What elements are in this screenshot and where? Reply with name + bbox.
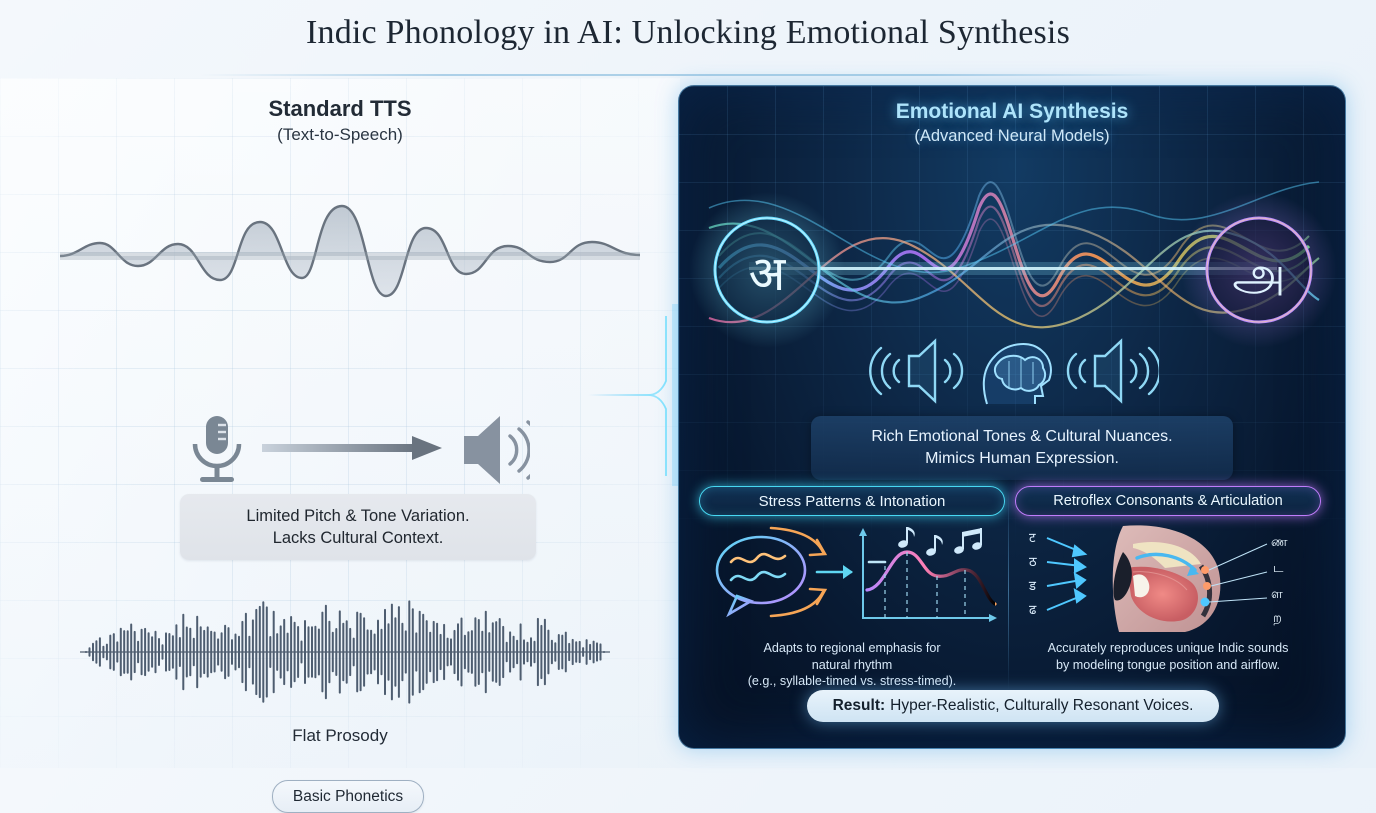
title-divider (200, 74, 1176, 76)
svg-text:ள: ள (1271, 587, 1283, 602)
standard-tts-note: Limited Pitch & Tone Variation. Lacks Cu… (180, 494, 536, 560)
tts-io-row (180, 410, 530, 490)
microphone-icon (195, 416, 239, 482)
standard-tts-note-line1: Limited Pitch & Tone Variation. (190, 505, 526, 527)
speaker-left-icon (870, 341, 962, 401)
standard-tts-header: Standard TTS (Text-to-Speech) (0, 96, 680, 145)
vocal-tract-art: टठडढ ணடளற (1015, 522, 1321, 634)
tamil-glyph-circle: அ (1232, 246, 1285, 302)
emotional-ai-panel: Emotional AI Synthesis (Advanced Neural … (678, 85, 1346, 749)
neural-speech-row (869, 334, 1159, 408)
retroflex-card[interactable]: Retroflex Consonants & Articulation (1015, 486, 1321, 706)
retroflex-caption-line2: by modeling tongue position and airflow. (1015, 657, 1321, 674)
emotional-ai-note-line1: Rich Emotional Tones & Cultural Nuances. (821, 426, 1223, 448)
standard-tts-panel: Standard TTS (Text-to-Speech) (0, 78, 680, 768)
airflow-arrows-icon (1047, 538, 1085, 610)
standard-tts-heading: Standard TTS (0, 96, 680, 122)
arrow-right-icon (817, 565, 853, 579)
result-text: Hyper-Realistic, Culturally Resonant Voi… (890, 697, 1193, 715)
tamil-retroflex-letters: ணடளற (1271, 535, 1288, 626)
infographic-canvas: Indic Phonology in AI: Unlocking Emotion… (0, 0, 1376, 768)
intonation-chart (859, 527, 997, 622)
emotional-ai-subheading: (Advanced Neural Models) (679, 127, 1345, 146)
stress-patterns-card-title: Stress Patterns & Intonation (699, 486, 1005, 516)
retroflex-caption: Accurately reproduces unique Indic sound… (1015, 640, 1321, 673)
basic-phonetics-button[interactable]: Basic Phonetics (272, 780, 424, 813)
speech-bubble-icon (717, 537, 805, 614)
basic-phonetics-label: Basic Phonetics (293, 788, 403, 806)
svg-text:ट: ट (1029, 531, 1036, 546)
smooth-waveform-graphic (60, 188, 640, 308)
emotional-ai-note-line2: Mimics Human Expression. (821, 448, 1223, 470)
stress-patterns-caption: Adapts to regional emphasis for natural … (699, 640, 1005, 690)
retroflex-card-title: Retroflex Consonants & Articulation (1015, 486, 1321, 516)
speaker-right-icon (1068, 341, 1159, 401)
svg-text:ठ: ठ (1029, 555, 1037, 570)
result-banner: Result: Hyper-Realistic, Culturally Reso… (807, 690, 1219, 722)
svg-text:ற: ற (1273, 611, 1282, 626)
stress-patterns-card[interactable]: Stress Patterns & Intonation (699, 486, 1005, 706)
stress-caption-line2: natural rhythm (699, 657, 1005, 674)
emotional-ai-heading: Emotional AI Synthesis (679, 100, 1345, 124)
arrow-right-icon (262, 436, 442, 460)
stress-patterns-art (699, 522, 1005, 634)
retroflex-caption-line1: Accurately reproduces unique Indic sound… (1015, 640, 1321, 657)
result-label: Result: (833, 697, 886, 715)
standard-tts-note-line2: Lacks Cultural Context. (190, 527, 526, 549)
emotional-ai-header: Emotional AI Synthesis (Advanced Neural … (679, 100, 1345, 146)
brain-head-icon (984, 344, 1051, 404)
svg-text:ढ: ढ (1029, 603, 1037, 618)
flat-prosody-label: Flat Prosody (0, 726, 680, 746)
standard-tts-subheading: (Text-to-Speech) (0, 125, 680, 145)
svg-text:ண: ண (1271, 535, 1288, 550)
flat-prosody-waveform (80, 596, 610, 708)
emotional-ai-note: Rich Emotional Tones & Cultural Nuances.… (811, 416, 1233, 480)
svg-text:ड: ड (1028, 579, 1037, 594)
devanagari-retroflex-letters: टठडढ (1028, 531, 1037, 618)
vocal-tract-diagram (1113, 525, 1221, 632)
devanagari-glyph-circle: अ (749, 246, 787, 302)
speaker-icon (464, 416, 530, 484)
stress-caption-line3: (e.g., syllable-timed vs. stress-timed). (699, 673, 1005, 690)
svg-text:ட: ட (1273, 561, 1284, 576)
feature-card-row: Stress Patterns & Intonation (693, 486, 1331, 706)
page-title: Indic Phonology in AI: Unlocking Emotion… (0, 14, 1376, 52)
stress-caption-line1: Adapts to regional emphasis for (699, 640, 1005, 657)
